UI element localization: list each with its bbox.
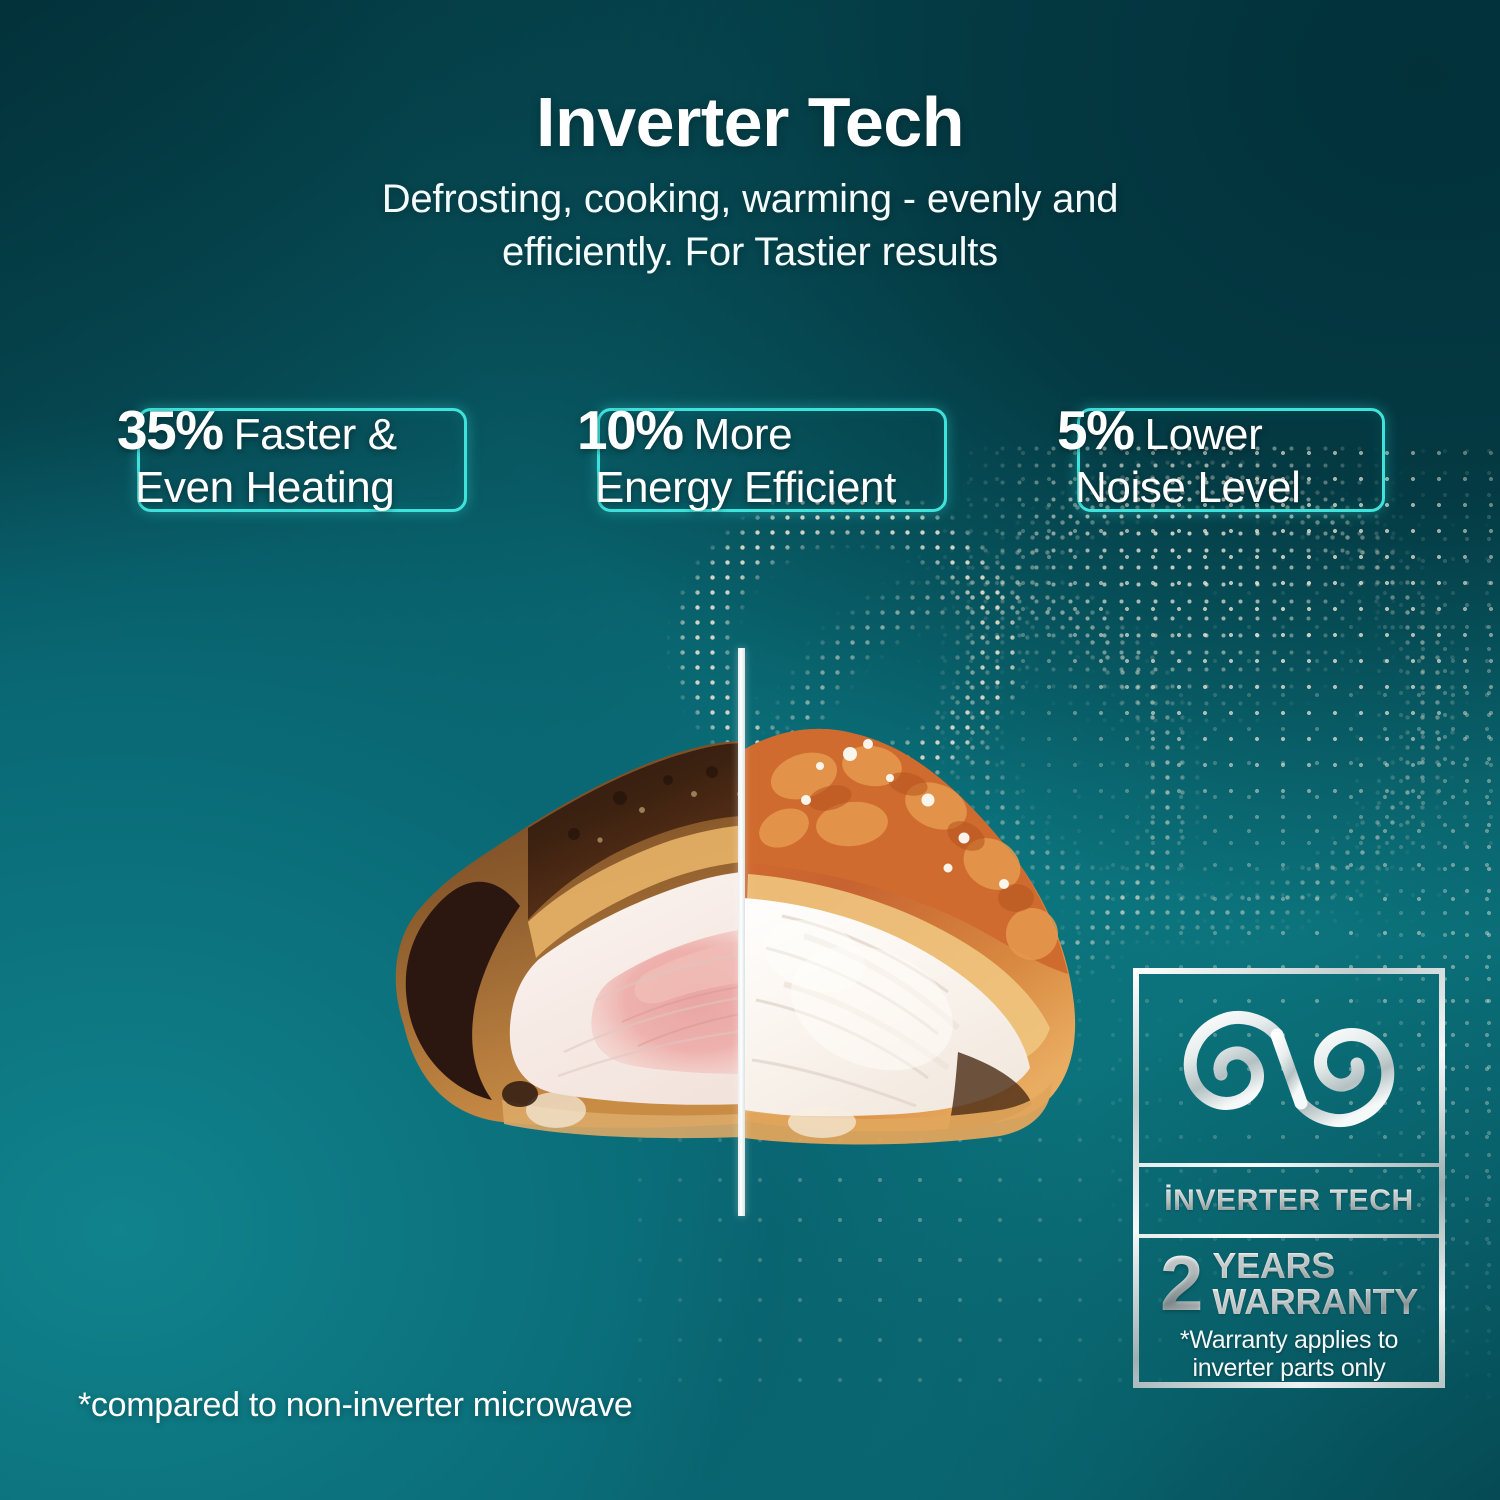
warranty-warranty-word: WARRANTY bbox=[1212, 1284, 1418, 1320]
stat-badge-line-2: Even Heating bbox=[117, 466, 467, 510]
food-comparison-image bbox=[352, 648, 1120, 1148]
inverter-infinity-icon bbox=[1139, 974, 1439, 1167]
subtitle-line-1: Defrosting, cooking, warming - evenly an… bbox=[0, 173, 1500, 226]
stat-badge-content: 35% Faster & Even Heating bbox=[115, 400, 467, 512]
header-block: Inverter Tech Defrosting, cooking, warmi… bbox=[0, 86, 1500, 278]
warranty-tech-label-row: İNVERTER TECH bbox=[1139, 1167, 1439, 1238]
stat-badge-content: 10% More Energy Efficient bbox=[575, 400, 947, 512]
stat-percent-value: 10% bbox=[577, 403, 683, 458]
warranty-years-word: YEARS bbox=[1212, 1248, 1418, 1284]
stat-label-word: Faster & bbox=[234, 413, 397, 457]
stat-label-word: Lower bbox=[1145, 413, 1263, 457]
comparison-footnote: *compared to non-inverter microwave bbox=[78, 1386, 633, 1425]
warranty-note-line-1: *Warranty applies to bbox=[1180, 1327, 1398, 1355]
warranty-badge: İNVERTER TECH 2 YEARS WARRANTY *Warranty… bbox=[1133, 968, 1445, 1388]
stat-badge-line-2: Noise Level bbox=[1057, 466, 1385, 510]
warranty-years-words: YEARS WARRANTY bbox=[1212, 1248, 1418, 1320]
warranty-body: 2 YEARS WARRANTY *Warranty applies to in… bbox=[1139, 1238, 1439, 1382]
stat-badge-noise-level: 5% Lower Noise Level bbox=[1055, 400, 1385, 512]
stat-percent-value: 5% bbox=[1057, 403, 1134, 458]
stat-label-word: More bbox=[694, 413, 793, 457]
warranty-years-number: 2 bbox=[1160, 1250, 1203, 1317]
subtitle-line-2: efficiently. For Tastier results bbox=[0, 226, 1500, 279]
food-half-inverter bbox=[740, 648, 1120, 1148]
warranty-note: *Warranty applies to inverter parts only bbox=[1180, 1327, 1398, 1382]
promo-image-root: Inverter Tech Defrosting, cooking, warmi… bbox=[0, 0, 1500, 1500]
stat-badge-row: 35% Faster & Even Heating 10% More Energ… bbox=[0, 400, 1500, 512]
page-title: Inverter Tech bbox=[0, 86, 1500, 159]
page-subtitle: Defrosting, cooking, warming - evenly an… bbox=[0, 173, 1500, 279]
comparison-divider-line bbox=[738, 648, 745, 1216]
stat-badge-line-1: 35% Faster & bbox=[117, 403, 467, 458]
stat-badge-line-1: 10% More bbox=[577, 403, 947, 458]
stat-badge-line-1: 5% Lower bbox=[1057, 403, 1385, 458]
stat-badge-content: 5% Lower Noise Level bbox=[1055, 400, 1385, 512]
stat-percent-value: 35% bbox=[117, 403, 223, 458]
warranty-tech-label: İNVERTER TECH bbox=[1164, 1184, 1414, 1218]
stat-badge-energy-efficient: 10% More Energy Efficient bbox=[575, 400, 947, 512]
warranty-note-line-2: inverter parts only bbox=[1180, 1355, 1398, 1383]
stat-badge-faster-heating: 35% Faster & Even Heating bbox=[115, 400, 467, 512]
warranty-years-row: 2 YEARS WARRANTY bbox=[1160, 1248, 1418, 1320]
stat-badge-line-2: Energy Efficient bbox=[577, 466, 947, 510]
food-half-non-inverter bbox=[352, 648, 740, 1148]
